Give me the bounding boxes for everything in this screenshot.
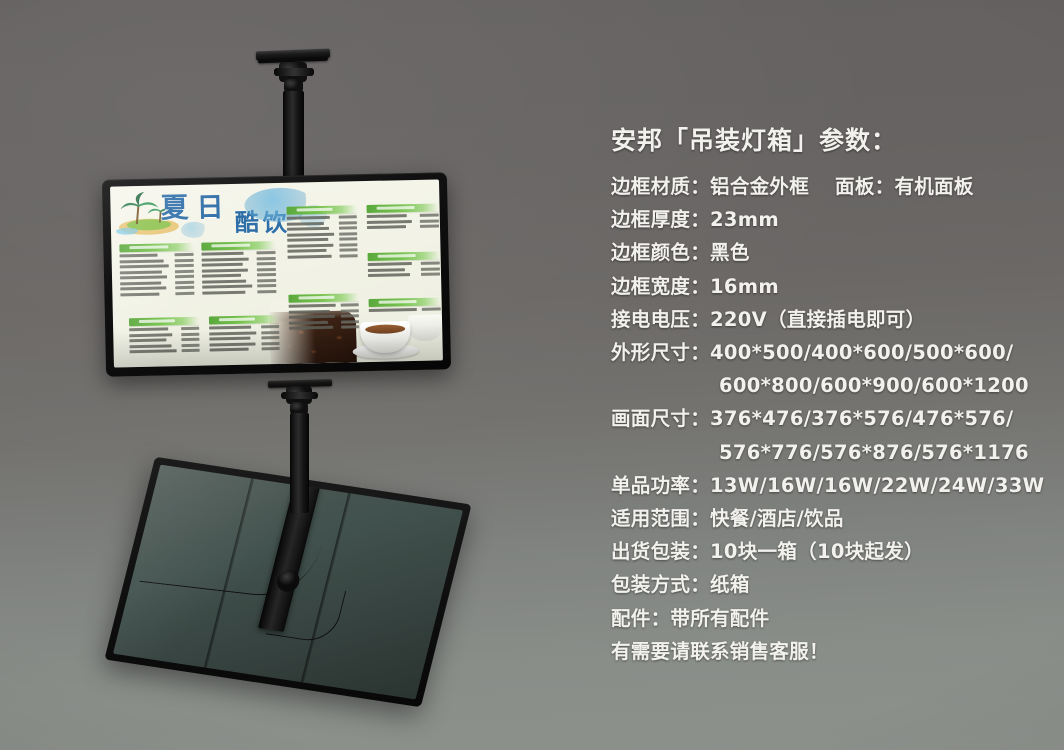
ceiling-mount-upper xyxy=(252,46,348,186)
spec-line: 单品功率：13W/16W/16W/22W/24W/33W xyxy=(611,469,1051,502)
product-spec-image: 夏 日 酷 饮 xyxy=(0,0,1064,750)
menu-item-row xyxy=(367,225,439,230)
menu-item-row xyxy=(289,314,359,319)
spec-line: 出货包装：10块一箱（10块起发） xyxy=(611,535,1051,568)
spec-line: 配件：带所有配件 xyxy=(611,602,1051,635)
menu-item-row xyxy=(368,267,440,272)
spec-value: 600*800/600*900/600*1200 xyxy=(719,374,1029,397)
menu-item-row xyxy=(287,232,357,237)
mount-joint-collar xyxy=(274,68,314,76)
menu-item-row xyxy=(289,320,359,325)
menu-item-row xyxy=(129,332,199,337)
mount-lower-joint-collar xyxy=(281,392,318,399)
spec-value: 有需要请联系销售客服！ xyxy=(611,640,829,663)
spec-line: 外形尺寸：400*500/400*600/500*600/ xyxy=(611,336,1051,369)
menu-section xyxy=(369,297,441,314)
spec-line: 边框材质：铝合金外框面板：有机面板 xyxy=(611,170,1051,203)
menu-item-row xyxy=(368,272,440,277)
spec-label: 外形尺寸： xyxy=(611,341,710,364)
menu-item-row xyxy=(202,262,276,267)
menu-item-row xyxy=(120,253,194,258)
spec-panel: 安邦「吊装灯箱」参数： 边框材质：铝合金外框面板：有机面板边框厚度：23mm边框… xyxy=(611,124,1051,668)
menu-item-row xyxy=(202,284,276,289)
menu-section-header xyxy=(369,297,441,307)
menu-item-row xyxy=(129,343,199,348)
spec-value: 纸箱 xyxy=(710,573,750,596)
spec-line: 600*800/600*900/600*1200 xyxy=(611,369,1051,402)
menu-item-row xyxy=(210,347,280,352)
spec-line: 576*776/576*876/576*1176 xyxy=(611,436,1051,469)
spec-line: 边框颜色：黑色 xyxy=(611,236,1051,269)
menu-section-header xyxy=(287,205,357,215)
menu-section xyxy=(209,315,280,354)
menu-item-row xyxy=(129,338,199,343)
menu-item-row xyxy=(369,307,441,312)
menu-item-row xyxy=(287,243,357,248)
spec-value: 铝合金外框 xyxy=(710,175,809,198)
water-splash-2 xyxy=(181,222,207,239)
menu-section xyxy=(201,241,276,297)
menu-item-row xyxy=(289,309,359,314)
spec-value: 10块一箱（10块起发） xyxy=(710,540,924,563)
menu-item-row xyxy=(120,269,194,274)
spec-label: 配件： xyxy=(611,607,670,630)
menu-item-row xyxy=(209,336,279,341)
menu-section xyxy=(129,317,200,356)
spec-label-2: 面板： xyxy=(835,175,894,198)
menu-item-row xyxy=(367,213,439,218)
menu-item-row xyxy=(202,290,276,295)
menu-item-row xyxy=(202,268,276,273)
menu-item-row xyxy=(289,303,359,308)
menu-section-header xyxy=(288,293,358,303)
menu-item-row xyxy=(130,349,200,354)
menu-columns xyxy=(110,179,439,186)
spec-value: 16mm xyxy=(710,275,779,298)
menu-item-row xyxy=(209,342,279,347)
spec-label: 单品功率： xyxy=(611,474,710,497)
spec-line: 接电电压：220V（直接插电即可） xyxy=(611,303,1051,336)
menu-section xyxy=(288,293,359,332)
spec-line: 包装方式：纸箱 xyxy=(611,568,1051,601)
menu-display-face: 夏 日 酷 饮 xyxy=(110,179,443,367)
mount-lower-pole xyxy=(290,413,309,513)
menu-title-char-1: 夏 xyxy=(160,194,189,223)
menu-item-row xyxy=(287,221,357,226)
spec-line: 适用范围：快餐/酒店/饮品 xyxy=(611,502,1051,535)
menu-section xyxy=(119,243,194,299)
menu-item-row xyxy=(202,257,276,262)
spec-line: 有需要请联系销售客服！ xyxy=(611,635,1051,668)
spec-value: 快餐/酒店/饮品 xyxy=(710,507,844,530)
menu-item-row xyxy=(120,286,194,291)
spec-label: 出货包装： xyxy=(611,540,710,563)
menu-title-char-2: 日 xyxy=(196,194,224,222)
menu-section-header xyxy=(129,317,199,327)
menu-section xyxy=(368,251,441,279)
menu-item-row xyxy=(368,261,440,266)
spec-label: 边框宽度： xyxy=(611,275,710,298)
spec-line: 边框厚度：23mm xyxy=(611,203,1051,236)
menu-item-row xyxy=(120,280,194,285)
ceiling-mount-lower xyxy=(262,376,358,512)
spec-line-list: 边框材质：铝合金外框面板：有机面板边框厚度：23mm边框颜色：黑色边框宽度：16… xyxy=(611,170,1051,668)
menu-item-row xyxy=(209,325,279,330)
menu-section xyxy=(287,205,358,261)
menu-item-row xyxy=(287,237,357,242)
menu-item-row xyxy=(288,254,358,259)
spec-value-2: 有机面板 xyxy=(894,175,973,198)
menu-item-row xyxy=(202,251,276,256)
spec-value: 400*500/400*600/500*600/ xyxy=(710,341,1013,364)
spec-label: 画面尺寸： xyxy=(611,407,710,430)
menu-item-row xyxy=(287,226,357,231)
menu-item-row xyxy=(289,325,359,330)
menu-item-row xyxy=(120,264,194,269)
menu-item-row xyxy=(120,258,194,263)
spec-label: 边框厚度： xyxy=(611,208,710,231)
menu-section-header xyxy=(201,241,275,251)
spec-value: 带所有配件 xyxy=(670,607,769,630)
spec-label: 边框材质： xyxy=(611,175,710,198)
spec-label: 包装方式： xyxy=(611,573,710,596)
menu-item-row xyxy=(367,219,439,224)
menu-item-row xyxy=(287,215,357,220)
menu-item-row xyxy=(202,279,276,284)
menu-item-row xyxy=(202,273,276,278)
menu-item-row xyxy=(129,327,199,332)
menu-section-header xyxy=(119,243,193,253)
menu-item-row xyxy=(209,330,279,335)
spec-line: 边框宽度：16mm xyxy=(611,270,1051,303)
upper-lightbox[interactable]: 夏 日 酷 饮 xyxy=(102,172,451,376)
menu-section-header xyxy=(368,251,440,261)
mount-pole xyxy=(283,91,304,186)
spec-label: 接电电压： xyxy=(611,308,710,331)
spec-value: 黑色 xyxy=(710,241,750,264)
spec-label: 边框颜色： xyxy=(611,241,710,264)
menu-section-header xyxy=(209,315,279,325)
menu-item-row xyxy=(120,275,194,280)
spec-label: 适用范围： xyxy=(611,507,710,530)
menu-item-row xyxy=(287,248,357,253)
spec-line: 画面尺寸：376*476/376*576/476*576/ xyxy=(611,402,1051,435)
spec-value: 23mm xyxy=(710,208,779,231)
spec-title: 安邦「吊装灯箱」参数： xyxy=(611,124,1051,158)
spec-value: 376*476/376*576/476*576/ xyxy=(710,407,1013,430)
spec-value: 13W/16W/16W/22W/24W/33W xyxy=(710,474,1044,497)
menu-section-header xyxy=(367,203,439,213)
menu-item-row xyxy=(120,292,194,297)
spec-value: 220V（直接插电即可） xyxy=(710,308,925,331)
menu-section xyxy=(367,203,440,231)
spec-value: 576*776/576*876/576*1176 xyxy=(719,441,1029,464)
